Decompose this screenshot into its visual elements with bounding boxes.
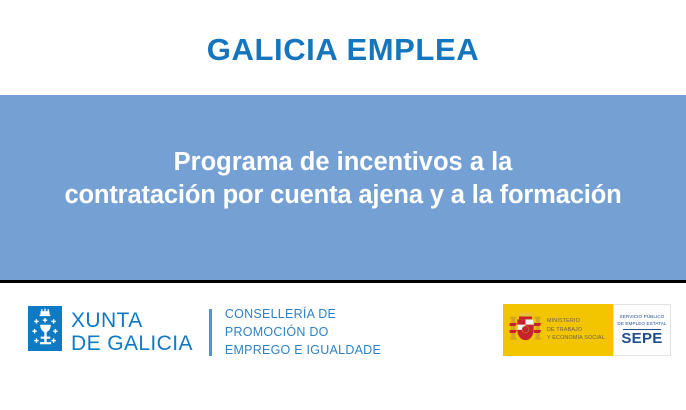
xunta-wordmark-line-2: DE GALICIA (71, 333, 193, 356)
conselleria-line-2: PROMOCIÓN DO (225, 324, 381, 342)
sepe-subtitle-line-1: SERVICIO PÚBLICO (620, 314, 665, 321)
ministerio-line-2: DE TRABAJO (547, 326, 605, 334)
page-title: GALICIA EMPLEA (207, 34, 479, 65)
ministerio-de-trabajo-logo: MINISTERIO DE TRABAJO Y ECONOMÍA SOCIAL (503, 304, 613, 356)
xunta-wordmark: XUNTA DE GALICIA (71, 306, 193, 359)
government-logos: MINISTERIO DE TRABAJO Y ECONOMÍA SOCIAL … (503, 304, 671, 356)
logo-divider (209, 309, 212, 356)
xunta-wordmark-line-1: XUNTA (71, 310, 193, 333)
spain-coat-of-arms-icon (509, 308, 542, 353)
xunta-de-galicia-coat-of-arms-icon (28, 306, 62, 351)
banner-line-1: Programa de incentivos a la (174, 146, 513, 178)
conselleria-block: CONSELLERÍA DE PROMOCIÓN DO EMPREGO E IG… (225, 306, 381, 359)
program-banner: Programa de incentivos a la contratación… (0, 95, 686, 283)
ministerio-text: MINISTERIO DE TRABAJO Y ECONOMÍA SOCIAL (547, 317, 605, 342)
sepe-wordmark: SEPE (621, 331, 662, 346)
xunta-de-galicia-logo: XUNTA DE GALICIA CONSELLERÍA DE PROMOCIÓ… (28, 306, 381, 359)
banner-line-2: contratación por cuenta ajena y a la for… (64, 179, 621, 211)
conselleria-line-1: CONSELLERÍA DE (225, 306, 381, 324)
page-footer: XUNTA DE GALICIA CONSELLERÍA DE PROMOCIÓ… (0, 286, 686, 410)
ministerio-line-1: MINISTERIO (547, 317, 605, 325)
sepe-logo: SERVICIO PÚBLICO DE EMPLEO ESTATAL SEPE (613, 304, 671, 356)
ministerio-line-3: Y ECONOMÍA SOCIAL (547, 334, 605, 342)
conselleria-line-3: EMPREGO E IGUALDADE (225, 342, 381, 360)
page-header: GALICIA EMPLEA (0, 0, 686, 95)
sepe-subtitle-line-2: DE EMPLEO ESTATAL (617, 321, 666, 328)
